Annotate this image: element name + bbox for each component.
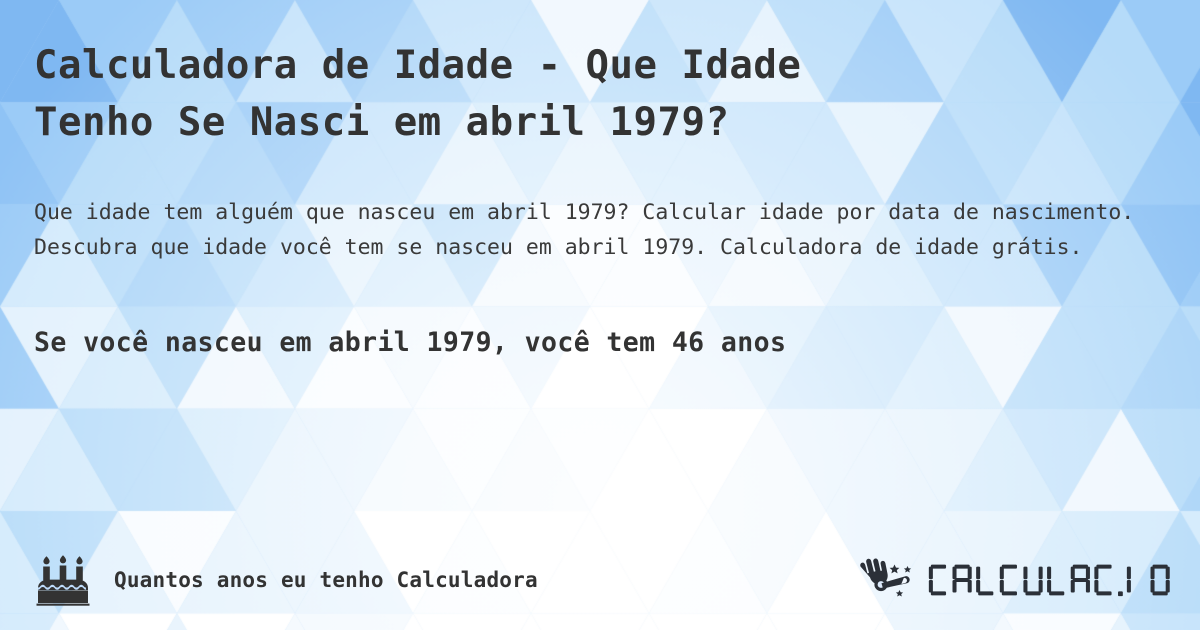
page-title: Calculadora de Idade - Que Idade Tenho S… — [34, 38, 1014, 151]
age-result-text: Se você nasceu em abril 1979, você tem 4… — [34, 327, 1166, 358]
description-paragraph: Que idade tem alguém que nasceu em abril… — [34, 195, 1149, 265]
page-content: Calculadora de Idade - Que Idade Tenho S… — [0, 0, 1200, 630]
